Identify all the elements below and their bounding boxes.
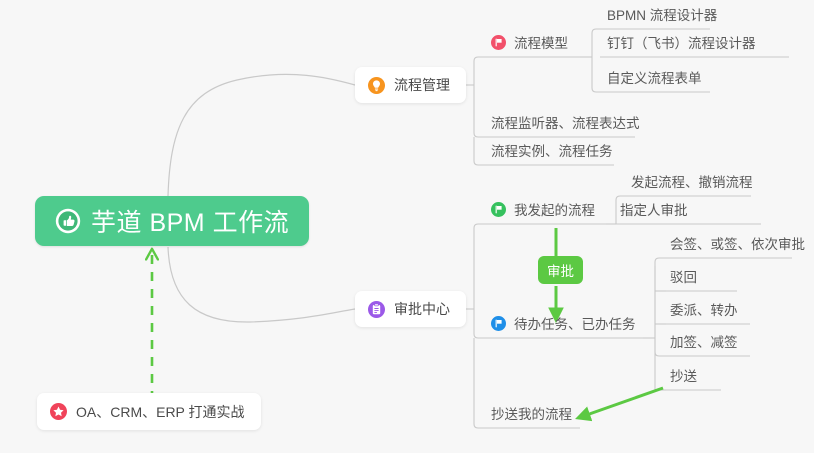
branch-label: 流程管理	[394, 75, 450, 95]
todo-done-bracket	[643, 258, 792, 390]
node-label: BPMN 流程设计器	[607, 4, 717, 24]
curve-to-process-management	[168, 74, 355, 196]
spine-to-custom-form	[592, 57, 603, 92]
node-process-model[interactable]: 流程模型	[491, 27, 568, 57]
node-my-initiated[interactable]: 我发起的流程	[491, 194, 595, 224]
thumbs-up-icon	[55, 208, 81, 234]
spine-top-cap	[655, 258, 666, 266]
node-todo-done-tasks[interactable]: 待办任务、已办任务	[491, 308, 636, 338]
node-label: 会签、或签、依次审批	[670, 233, 805, 253]
spine-bottom-cap	[655, 266, 666, 356]
approval-highlight-pill[interactable]: 审批	[538, 256, 583, 284]
root-node[interactable]: 芋道 BPM 工作流	[35, 196, 309, 246]
node-assignee-approval[interactable]: 指定人审批	[620, 194, 688, 224]
node-label: 发起流程、撤销流程	[631, 171, 753, 191]
pill-label: 审批	[547, 260, 574, 280]
spine-to-cc-to-me	[474, 338, 487, 428]
spine-to-my-initiated	[474, 224, 487, 309]
node-label: 流程监听器、流程表达式	[491, 112, 640, 132]
flag-icon	[491, 35, 506, 50]
curve-to-approval-center	[168, 247, 355, 322]
node-label: 抄送	[670, 365, 697, 385]
spine-to-instance	[474, 137, 487, 165]
node-add-remove-sign[interactable]: 加签、减签	[670, 326, 738, 356]
node-delegate-transfer[interactable]: 委派、转办	[670, 294, 738, 324]
mindmap-canvas: 芋道 BPM 工作流 流程管理 审批中心	[0, 0, 814, 453]
branch-label: 审批中心	[394, 299, 450, 319]
node-countersign[interactable]: 会签、或签、依次审批	[670, 228, 805, 258]
branch-approval-center[interactable]: 审批中心	[355, 291, 466, 327]
flag-icon	[491, 202, 506, 217]
node-dingtalk-feishu-designer[interactable]: 钉钉（飞书）流程设计器	[607, 27, 756, 57]
node-label: 我发起的流程	[514, 199, 595, 219]
arrow-cc-to-ccmine	[578, 388, 663, 418]
spine-to-bpmn	[592, 29, 603, 57]
flag-icon	[491, 316, 506, 331]
node-label: 钉钉（飞书）流程设计器	[607, 32, 756, 52]
node-label: 加签、减签	[670, 331, 738, 351]
spine-to-todo-done	[474, 309, 487, 338]
clipboard-icon	[368, 301, 385, 318]
node-label: 待办任务、已办任务	[514, 313, 636, 333]
node-start-cancel[interactable]: 发起流程、撤销流程	[631, 166, 753, 196]
node-reject[interactable]: 驳回	[670, 261, 697, 291]
root-label: 芋道 BPM 工作流	[91, 203, 289, 239]
node-cc[interactable]: 抄送	[670, 360, 697, 390]
star-icon	[50, 403, 67, 420]
node-label: 驳回	[670, 266, 697, 286]
bottom-note-card[interactable]: OA、CRM、ERP 打通实战	[37, 393, 261, 430]
node-listener-expression[interactable]: 流程监听器、流程表达式	[491, 107, 640, 137]
node-custom-process-form[interactable]: 自定义流程表单	[607, 62, 702, 92]
lightbulb-icon	[368, 77, 385, 94]
node-label: 自定义流程表单	[607, 67, 702, 87]
node-label: 流程模型	[514, 32, 568, 52]
node-label: 抄送我的流程	[491, 403, 572, 423]
node-cc-to-me[interactable]: 抄送我的流程	[491, 398, 572, 428]
bottom-note-label: OA、CRM、ERP 打通实战	[76, 402, 245, 422]
spine-to-listener	[474, 85, 487, 137]
node-instance-task[interactable]: 流程实例、流程任务	[491, 135, 613, 165]
spine-to-process-model	[474, 57, 487, 85]
node-label: 委派、转办	[670, 299, 738, 319]
branch-process-management[interactable]: 流程管理	[355, 67, 466, 103]
node-label: 流程实例、流程任务	[491, 140, 613, 160]
node-label: 指定人审批	[620, 199, 688, 219]
node-bpmn-designer[interactable]: BPMN 流程设计器	[607, 0, 717, 29]
